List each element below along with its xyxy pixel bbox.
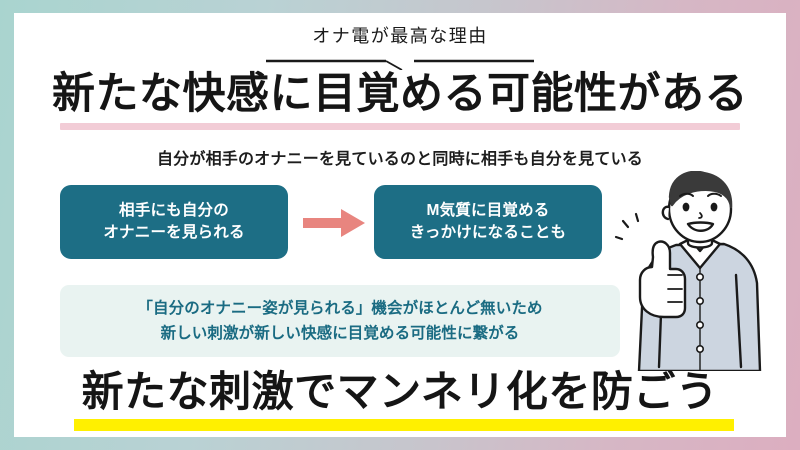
headline-underline	[60, 123, 740, 130]
flow-step-2-line1: M気質に目覚める	[410, 200, 566, 222]
arrow-right-icon	[303, 209, 365, 237]
flow-row: 相手にも自分の オナニーを見られる M気質に目覚める きっかけになることも	[60, 185, 620, 263]
note-line-1: 「自分のオナニー姿が見られる」機会がほとんど無いため	[137, 296, 542, 321]
slide-content: オナ電が最高な理由 新たな快感に目覚める可能性がある 自分が相手のオナニーを見て…	[14, 13, 786, 437]
kicker-rule-decoration	[266, 58, 534, 70]
slide-frame: オナ電が最高な理由 新たな快感に目覚める可能性がある 自分が相手のオナニーを見て…	[0, 0, 800, 450]
note-panel: 「自分のオナニー姿が見られる」機会がほとんど無いため 新しい刺激が新しい快感に目…	[60, 285, 620, 357]
flow-step-1-line1: 相手にも自分の	[103, 200, 244, 222]
man-thumbs-up-illustration	[610, 171, 786, 371]
lead-text: 自分が相手のオナニーを見ているのと同時に相手も自分を見ている	[14, 145, 786, 169]
kicker-text: オナ電が最高な理由	[312, 27, 488, 47]
note-line-2: 新しい刺激が新しい快感に目覚める可能性に繋がる	[161, 321, 520, 346]
flow-step-2-line2: きっかけになることも	[410, 222, 566, 244]
kicker-wrap: オナ電が最高な理由	[14, 27, 786, 47]
page-title: 新たな快感に目覚める可能性がある	[14, 71, 786, 117]
flow-step-2: M気質に目覚める きっかけになることも	[374, 185, 602, 259]
flow-step-1-line2: オナニーを見られる	[103, 222, 244, 244]
banner-highlight	[74, 419, 734, 431]
banner-title: 新たな刺激でマンネリ化を防ごう	[14, 369, 786, 414]
flow-step-1: 相手にも自分の オナニーを見られる	[60, 185, 288, 259]
